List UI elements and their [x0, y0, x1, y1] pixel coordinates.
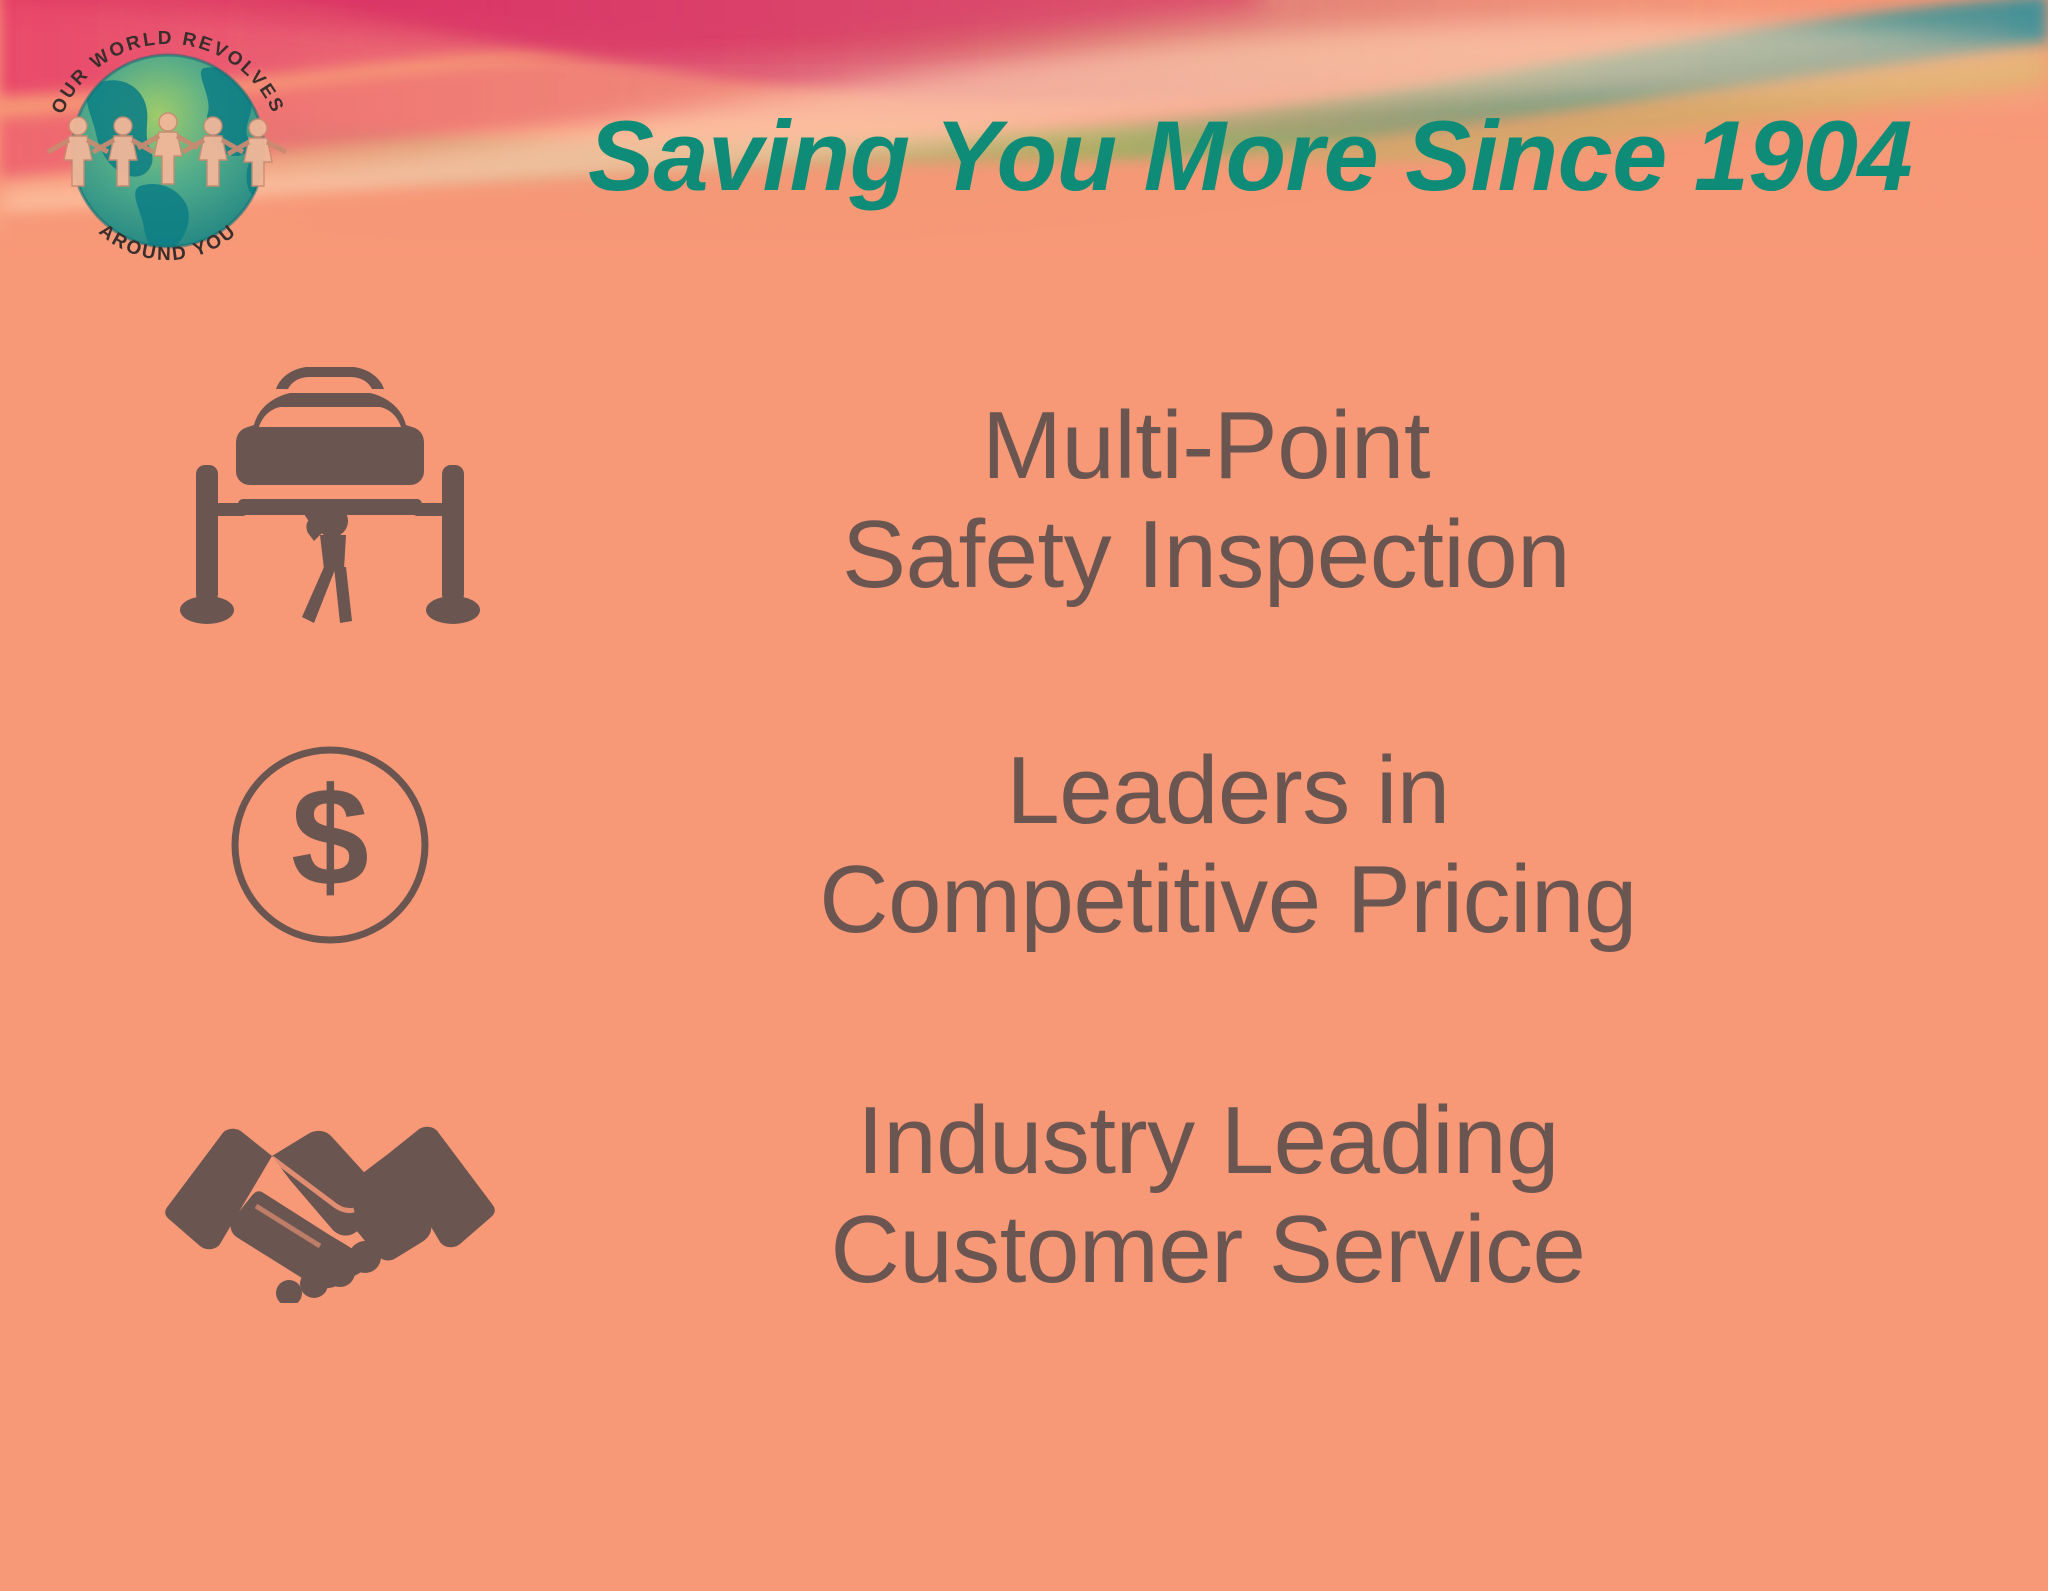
feature-row: Industry Leading Customer Service — [0, 1020, 2048, 1370]
feature-icon-slot — [0, 1088, 660, 1303]
feature-label: Industry Leading Customer Service — [648, 1086, 1768, 1305]
car-lift-inspection-icon — [180, 355, 480, 645]
dollar-sign-glyph: $ — [291, 758, 369, 915]
feature-row: $ Leaders in Competitive Pricing — [0, 670, 2048, 1020]
dollar-circle-icon: $ — [225, 740, 435, 950]
feature-label-line2: Customer Service — [648, 1195, 1768, 1304]
feature-row: Multi-Point Safety Inspection — [0, 330, 2048, 670]
feature-label-line1: Industry Leading — [648, 1086, 1768, 1195]
feature-label-line1: Leaders in — [668, 736, 1788, 845]
feature-icon-slot — [0, 355, 660, 645]
feature-label: Multi-Point Safety Inspection — [646, 391, 1766, 610]
feature-label-line2: Safety Inspection — [646, 500, 1766, 609]
feature-label-line2: Competitive Pricing — [668, 845, 1788, 954]
handshake-icon — [160, 1088, 500, 1303]
globe-logo-graphic: OUR WORLD REVOLVES AROUND YOU — [18, 8, 318, 293]
feature-label: Leaders in Competitive Pricing — [668, 736, 1788, 955]
feature-list: Multi-Point Safety Inspection $ Leaders … — [0, 330, 2048, 1370]
tagline-heading: Saving You More Since 1904 — [470, 106, 2030, 207]
feature-label-line1: Multi-Point — [646, 391, 1766, 500]
feature-icon-slot: $ — [0, 740, 660, 950]
company-logo[interactable]: OUR WORLD REVOLVES AROUND YOU — [18, 8, 318, 293]
